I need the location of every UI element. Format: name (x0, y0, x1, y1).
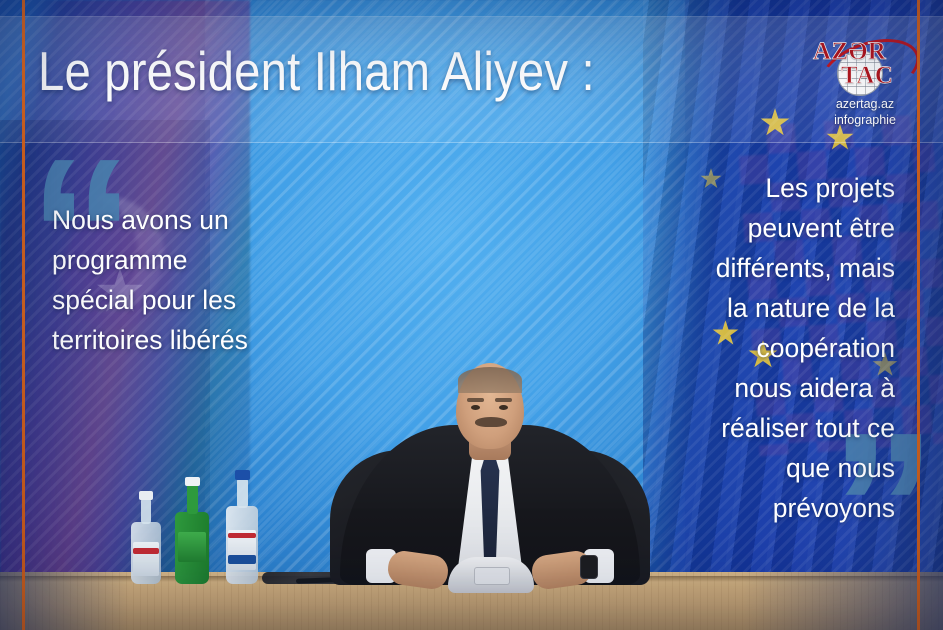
infographic-poster: “ ” Nous avons un programme spécial pour… (0, 0, 943, 630)
quote-left: Nous avons un programme spécial pour les… (52, 200, 267, 360)
speaker-photo (330, 335, 650, 585)
microphone-panel (474, 567, 510, 585)
speaker-mustache (475, 417, 507, 427)
accent-line-right (917, 0, 920, 630)
desk-shadow-left (0, 572, 130, 630)
accent-line-left (22, 0, 25, 630)
speaker-eye-left (471, 405, 480, 410)
page-title: Le président Ilham Aliyev : (38, 44, 595, 99)
logo-word-tac: TAC (841, 62, 893, 90)
azertac-logo-mark: AZƏR TAC (811, 34, 919, 96)
speaker-eyebrow-left (467, 398, 484, 402)
speaker-eye-right (499, 405, 508, 410)
speaker-eyebrow-right (495, 398, 512, 402)
azertac-logo[interactable]: AZƏR TAC azertag.az infographie (809, 34, 921, 128)
wristwatch-icon (580, 555, 598, 579)
logo-kind-label: infographie (809, 112, 921, 128)
quote-right: Les projets peuvent être différents, mai… (695, 168, 895, 528)
speaker-hair (458, 367, 522, 393)
